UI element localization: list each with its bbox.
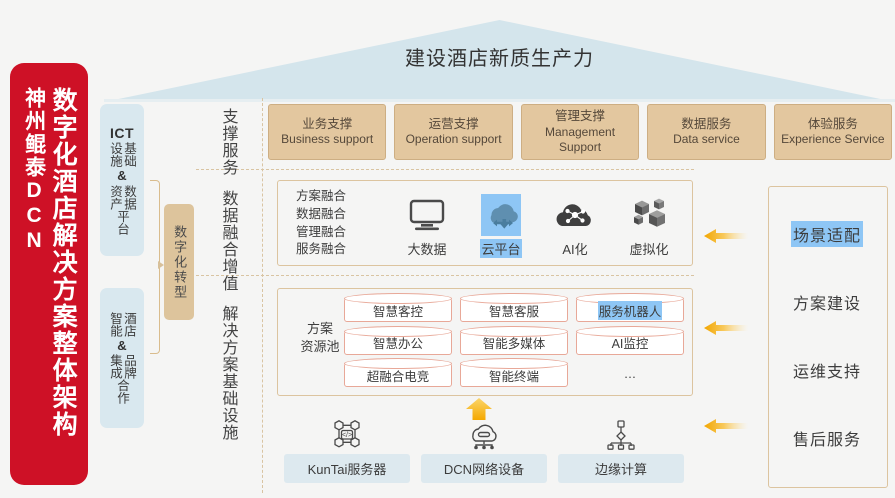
architecture-diagram: 数字化酒店解决方案整体架构 神州鲲泰DCN 建设酒店新质生产力 ICT 基础 设…: [0, 0, 895, 498]
fusion-item-row: 大数据 云平台: [390, 186, 686, 258]
right-service-list: 场景适配 方案建设 运维支持 售后服务: [768, 186, 886, 486]
brand-banner: 数字化酒店解决方案整体架构 神州鲲泰DCN: [10, 63, 88, 485]
pool-item-smart-customer-service[interactable]: 智慧客服: [460, 298, 568, 322]
fusion-term: 方案融合: [296, 188, 386, 206]
left-arrow-icon-1: [704, 228, 748, 244]
capability-line-1: 酒店 智能: [108, 312, 136, 337]
capability-line-3: 平台: [115, 210, 129, 235]
fusion-item-label: 大数据: [407, 239, 446, 258]
infra-item-network[interactable]: DCN网络设备: [421, 420, 547, 482]
fusion-item-label: 虚拟化: [629, 239, 668, 258]
banner-main-title: 数字化酒店解决方案整体架构: [48, 87, 78, 438]
pool-item-smart-terminal[interactable]: 智能终端: [460, 363, 568, 387]
digital-transform-label: 数字化转型: [172, 225, 186, 300]
right-service-scene-adaptation[interactable]: 场景适配: [791, 221, 863, 247]
support-cell-business[interactable]: 业务支撑 Business support: [268, 104, 386, 160]
pool-item-smart-office[interactable]: 智慧办公: [344, 331, 452, 355]
server-cluster-icon: </>: [330, 420, 364, 450]
edge-node-icon: [605, 420, 637, 450]
capability-ampersand: &: [117, 338, 126, 354]
row-label-infrastructure: 解决方案基础设施: [196, 305, 258, 441]
support-service-row: 业务支撑 Business support 运营支撑 Operation sup…: [268, 104, 892, 160]
banner-sub-title: 神州鲲泰DCN: [21, 87, 46, 254]
fusion-item-bigdata[interactable]: 大数据: [394, 194, 460, 258]
row-label-support: 支撑服务: [196, 108, 258, 176]
row-label-data-fusion: 数据融合增值: [196, 190, 258, 292]
fusion-item-virtualization[interactable]: 虚拟化: [616, 194, 682, 258]
infra-item-label: 边缘计算: [558, 454, 684, 483]
monitor-icon: [409, 194, 445, 236]
pool-item-service-robot[interactable]: 服务机器人: [576, 298, 684, 322]
capability-line-1: 基础 设施: [108, 142, 136, 167]
support-cell-operation[interactable]: 运营支撑 Operation support: [394, 104, 512, 160]
pool-item-smart-multimedia[interactable]: 智能多媒体: [460, 331, 568, 355]
fusion-term: 数据融合: [296, 206, 386, 224]
capability-box-ict[interactable]: ICT 基础 设施 & 数据 资产 平台: [100, 104, 144, 256]
support-cell-management[interactable]: 管理支撑 Management Support: [521, 104, 639, 160]
infra-item-edge[interactable]: 边缘计算: [558, 420, 684, 482]
left-arrow-icon-3: [704, 418, 748, 434]
cloud-network-icon: [466, 420, 502, 450]
infra-item-label: KunTai服务器: [284, 454, 410, 483]
capability-line-3: 合作: [115, 379, 129, 404]
row-divider-1: [196, 169, 694, 170]
upward-arrow-icon: [466, 398, 492, 420]
capability-box-hotel[interactable]: 酒店 智能 & 品牌 集成 合作: [100, 288, 144, 428]
resource-pool-grid: 智慧客控 智慧客服 服务机器人 智慧办公 智能多媒体 AI监控 超融合电竞 智能…: [344, 294, 684, 388]
svg-text:</>: </>: [342, 432, 352, 439]
pool-item-more: …: [576, 363, 684, 385]
fusion-item-label: AI化: [562, 239, 587, 258]
cloud-sync-icon: [481, 194, 521, 236]
fusion-terms-list: 方案融合 数据融合 管理融合 服务融合: [296, 188, 386, 259]
capability-line-2: 品牌 集成: [108, 354, 136, 379]
roof-title: 建设酒店新质生产力: [104, 42, 895, 71]
fusion-item-ai[interactable]: AI化: [542, 194, 608, 258]
pool-item-ai-monitoring[interactable]: AI监控: [576, 331, 684, 355]
capability-ampersand: &: [117, 168, 126, 184]
row-divider-2: [196, 275, 694, 276]
fusion-term: 服务融合: [296, 241, 386, 259]
right-service-operation-support[interactable]: 运维支持: [791, 357, 863, 383]
capability-line-2: 数据 资产: [108, 185, 136, 210]
infrastructure-row: </> KunTai服务器 DCN网络设备: [284, 420, 684, 482]
fusion-item-label: 云平台: [480, 239, 521, 258]
right-service-solution-build[interactable]: 方案建设: [791, 289, 863, 315]
left-arrow-icon-2: [704, 320, 748, 336]
right-service-after-sales[interactable]: 售后服务: [791, 425, 863, 451]
cubes-icon: [629, 194, 669, 236]
infra-item-label: DCN网络设备: [421, 454, 547, 483]
capability-title: ICT: [110, 125, 134, 141]
support-cell-experience[interactable]: 体验服务 Experience Service: [774, 104, 892, 160]
ai-cloud-icon: [554, 194, 596, 236]
fusion-term: 管理融合: [296, 224, 386, 242]
pool-item-smart-room-control[interactable]: 智慧客控: [344, 298, 452, 322]
resource-pool-label: 方案 资源池: [290, 320, 350, 355]
fusion-item-cloud[interactable]: 云平台: [468, 194, 534, 258]
digital-transform-box[interactable]: 数字化转型: [164, 204, 194, 320]
infra-item-server[interactable]: </> KunTai服务器: [284, 420, 410, 482]
support-cell-data[interactable]: 数据服务 Data service: [647, 104, 765, 160]
column-divider: [262, 98, 263, 493]
pool-item-hyperconverged-esports[interactable]: 超融合电竞: [344, 363, 452, 387]
